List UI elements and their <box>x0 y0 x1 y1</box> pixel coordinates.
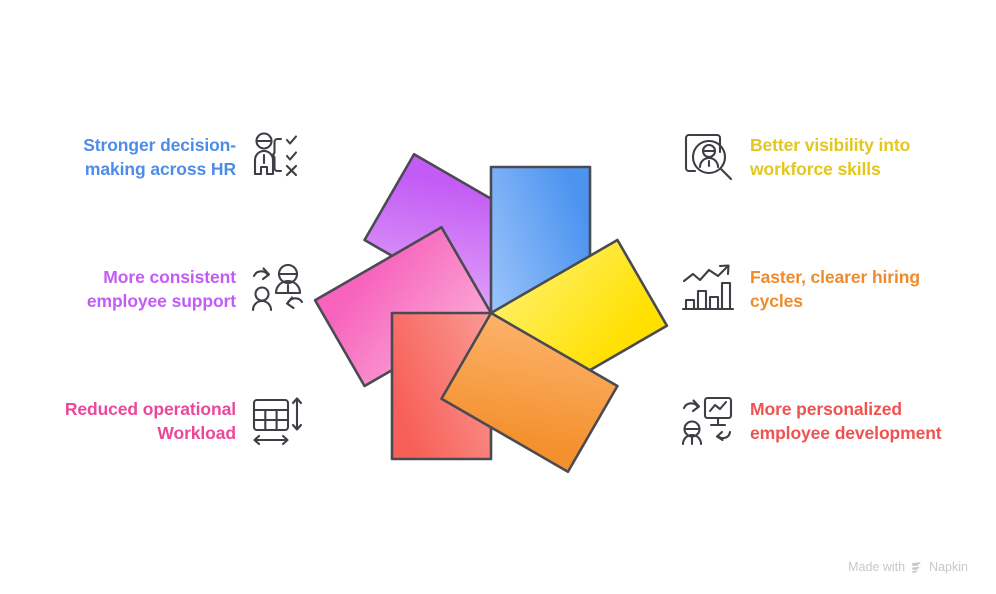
napkin-watermark: Made with Napkin <box>848 560 968 574</box>
document-person-search-icon <box>680 130 736 184</box>
napkin-logo-icon <box>910 560 924 574</box>
watermark-brand: Napkin <box>929 560 968 574</box>
table-resize-icon <box>250 394 306 448</box>
benefit-item-personalized-development[interactable]: More personalized employee development <box>680 394 996 448</box>
people-exchange-icon <box>250 262 306 316</box>
person-presentation-cycle-icon <box>680 394 736 448</box>
benefit-label: Better visibility into workforce skills <box>750 133 910 181</box>
benefit-label: Faster, clearer hiring cycles <box>750 265 920 313</box>
pinwheel-diagram <box>300 130 696 490</box>
bar-chart-trend-up-icon <box>680 262 736 316</box>
benefit-item-reduced-workload[interactable]: Reduced operational Workload <box>0 394 306 448</box>
diagram-canvas: Stronger decision- making across HR More… <box>0 0 996 594</box>
watermark-prefix: Made with <box>848 560 905 574</box>
benefit-item-better-visibility[interactable]: Better visibility into workforce skills <box>680 130 996 184</box>
benefit-item-consistent-support[interactable]: More consistent employee support <box>0 262 306 316</box>
benefit-label: Stronger decision- making across HR <box>83 133 236 181</box>
person-decision-tree-icon <box>250 130 306 184</box>
benefit-label: More personalized employee development <box>750 397 942 445</box>
benefit-label: Reduced operational Workload <box>65 397 236 445</box>
benefit-item-stronger-decision-making[interactable]: Stronger decision- making across HR <box>0 130 306 184</box>
benefit-label: More consistent employee support <box>87 265 236 313</box>
benefit-item-faster-hiring[interactable]: Faster, clearer hiring cycles <box>680 262 996 316</box>
